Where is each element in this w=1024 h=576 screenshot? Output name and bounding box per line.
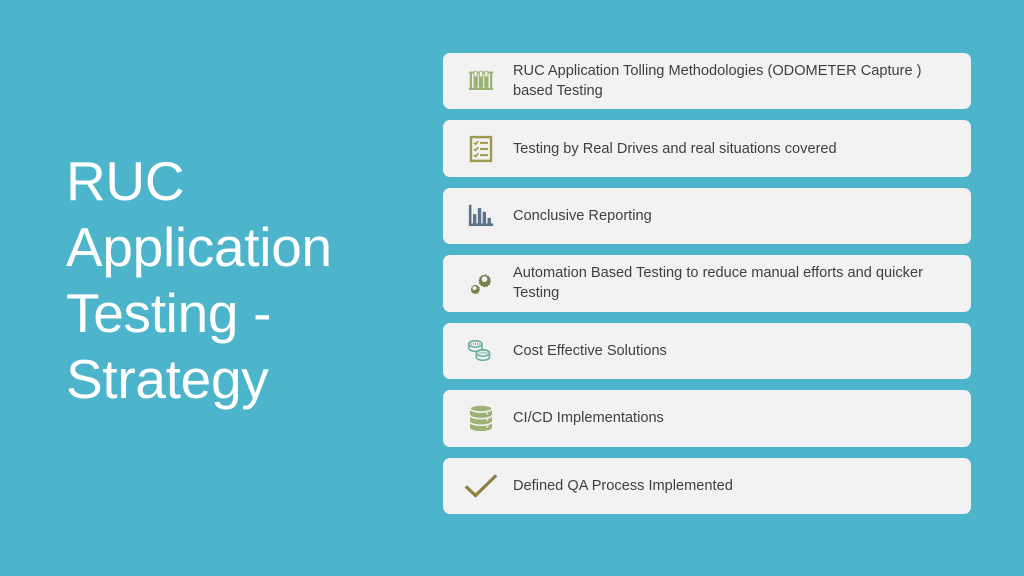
list-item-label: CI/CD Implementations bbox=[503, 408, 957, 428]
title-block: RUC Application Testing - Strategy bbox=[66, 148, 396, 412]
strategy-card-list: RUC Application Tolling Methodologies (O… bbox=[443, 53, 971, 514]
stacked-coins-icon bbox=[459, 329, 503, 373]
database-icon bbox=[459, 396, 503, 440]
list-item[interactable]: Testing by Real Drives and real situatio… bbox=[443, 120, 971, 176]
test-tube-rack-icon bbox=[459, 59, 503, 103]
list-item[interactable]: CI/CD Implementations bbox=[443, 390, 971, 446]
list-item[interactable]: Cost Effective Solutions bbox=[443, 323, 971, 379]
clipboard-checklist-icon bbox=[459, 127, 503, 171]
list-item-label: Automation Based Testing to reduce manua… bbox=[503, 263, 957, 303]
list-item[interactable]: Conclusive Reporting bbox=[443, 188, 971, 244]
bar-chart-icon bbox=[459, 194, 503, 238]
list-item-label: Defined QA Process Implemented bbox=[503, 476, 957, 496]
checkmark-icon bbox=[459, 464, 503, 508]
page-title: RUC Application Testing - Strategy bbox=[66, 148, 396, 412]
list-item[interactable]: Automation Based Testing to reduce manua… bbox=[443, 255, 971, 311]
list-item-label: RUC Application Tolling Methodologies (O… bbox=[503, 61, 957, 101]
slide-canvas: RUC Application Testing - Strategy bbox=[0, 0, 1024, 576]
list-item-label: Cost Effective Solutions bbox=[503, 341, 957, 361]
list-item-label: Testing by Real Drives and real situatio… bbox=[503, 139, 957, 159]
list-item[interactable]: RUC Application Tolling Methodologies (O… bbox=[443, 53, 971, 109]
list-item-label: Conclusive Reporting bbox=[503, 206, 957, 226]
gears-icon bbox=[459, 261, 503, 305]
list-item[interactable]: Defined QA Process Implemented bbox=[443, 458, 971, 514]
